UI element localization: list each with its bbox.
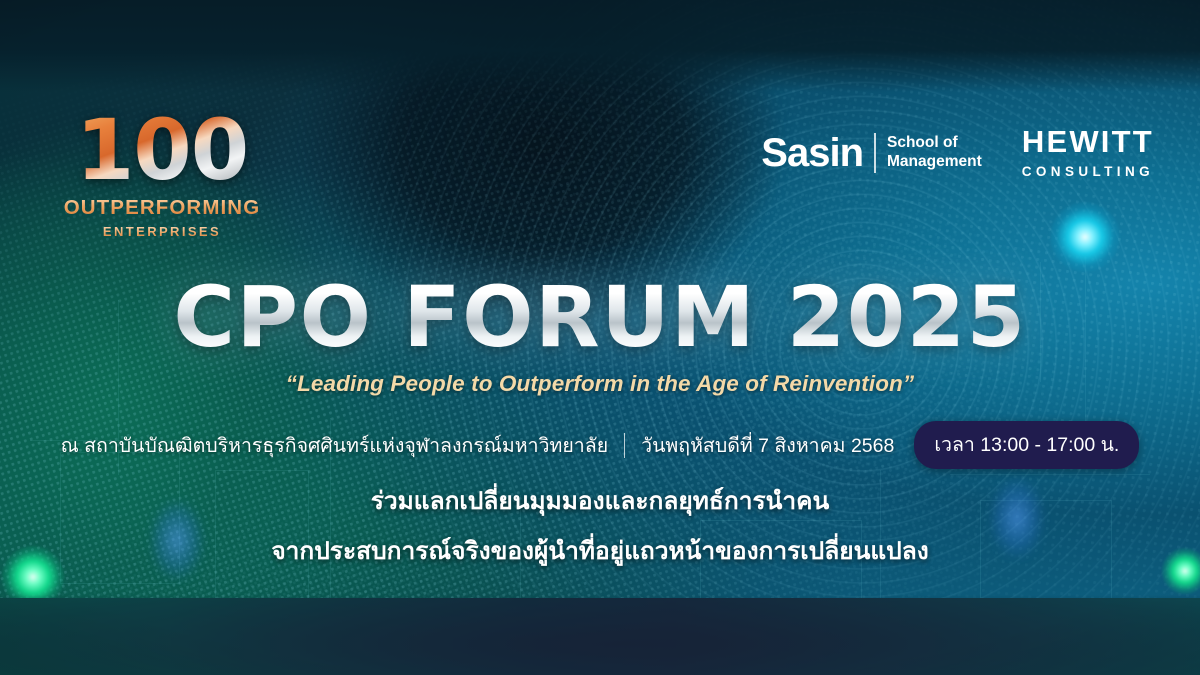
tagline: “Leading People to Outperform in the Age… (0, 371, 1200, 397)
event-poster: 100 OUTPERFORMING ENTERPRISES Sasin Scho… (0, 0, 1200, 675)
body-copy: ร่วมแลกเปลี่ยนมุมมองและกลยุทธ์การนำคน จา… (0, 481, 1200, 570)
logo-outperforming-label: OUTPERFORMING (52, 196, 272, 220)
logo-100-number: 100 (52, 112, 272, 189)
sasin-logo: Sasin School of Management (761, 133, 981, 173)
body-line-2: จากประสบการณ์จริงของผู้นำที่อยู่แถวหน้าข… (0, 531, 1200, 570)
venue-date-row: ณ สถาบันบัณฒิตบริหารธุรกิจศศินทร์แห่งจุฬ… (0, 421, 1200, 469)
poster-content: 100 OUTPERFORMING ENTERPRISES Sasin Scho… (0, 0, 1200, 675)
sasin-wordmark: Sasin (761, 133, 863, 173)
sasin-subtitle-line2: Management (887, 153, 982, 171)
hewitt-subtitle: CONSULTING (1022, 164, 1154, 179)
sasin-divider (874, 133, 876, 173)
venue-text: ณ สถาบันบัณฒิตบริหารธุรกิจศศินทร์แห่งจุฬ… (61, 430, 608, 461)
hewitt-wordmark: HEWITT (1022, 126, 1154, 157)
main-title: CPO FORUM 2025 (173, 268, 1026, 366)
sasin-subtitle-line1: School of (887, 134, 982, 152)
logo-enterprises-label: ENTERPRISES (52, 224, 272, 239)
partner-logos: Sasin School of Management HEWITT CONSUL… (761, 126, 1154, 179)
main-title-wrap: CPO FORUM 2025 (0, 268, 1200, 366)
logo-100-outperforming-enterprises: 100 OUTPERFORMING ENTERPRISES (52, 112, 272, 239)
event-date: วันพฤหัสบดีที่ 7 สิงหาคม 2568 (641, 430, 894, 461)
venue-date-separator (624, 433, 625, 458)
hewitt-logo: HEWITT CONSULTING (1022, 126, 1154, 179)
body-line-1: ร่วมแลกเปลี่ยนมุมมองและกลยุทธ์การนำคน (0, 481, 1200, 520)
event-time-badge: เวลา 13:00 - 17:00 น. (914, 421, 1139, 469)
